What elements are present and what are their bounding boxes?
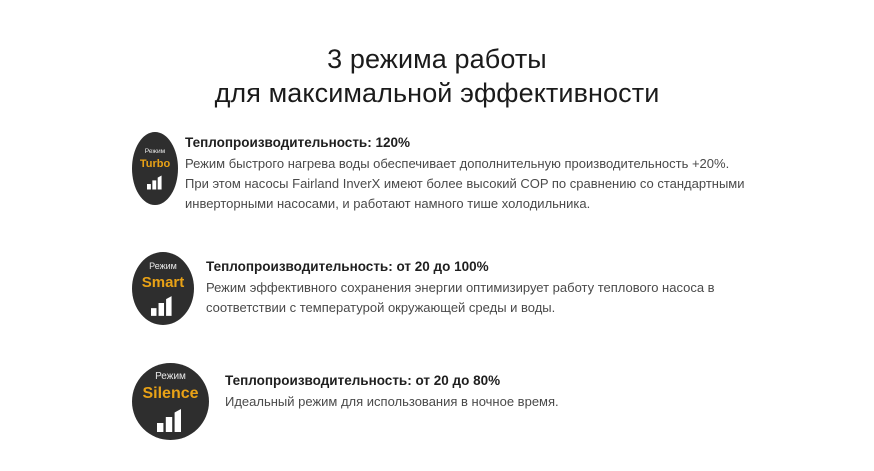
signal-bars-icon (147, 175, 164, 190)
mode-text-turbo: Теплопроизводительность: 120% Режим быст… (185, 132, 745, 214)
modes-list: Режим Turbo Теплопроизводительность: 120… (0, 132, 874, 440)
mode-body: Идеальный режим для использования в ночн… (225, 392, 559, 412)
mode-badge-turbo: Режим Turbo (132, 132, 178, 205)
mode-heading: Теплопроизводительность: от 20 до 80% (225, 371, 559, 390)
mode-body: Режим быстрого нагрева воды обеспечивает… (185, 154, 745, 214)
page-title: 3 режима работы для максимальной эффекти… (0, 18, 874, 110)
mode-text-silence: Теплопроизводительность: от 20 до 80% Ид… (225, 363, 559, 412)
mode-body-line: инверторными насосами, и работают намног… (185, 194, 745, 214)
mode-body: Режим эффективного сохранения энергии оп… (206, 278, 715, 318)
mode-item-turbo: Режим Turbo Теплопроизводительность: 120… (132, 132, 854, 214)
mode-heading: Теплопроизводительность: 120% (185, 133, 745, 152)
mode-body-line: Режим быстрого нагрева воды обеспечивает… (185, 154, 745, 174)
badge-mode-name: Silence (142, 386, 198, 402)
mode-item-smart: Режим Smart Теплопроизводительность: от … (132, 252, 854, 325)
mode-badge-silence: Режим Silence (132, 363, 209, 440)
mode-item-silence: Режим Silence Теплопроизводительность: о… (132, 363, 854, 440)
badge-word-label: Режим (149, 262, 177, 271)
signal-bars-icon (151, 296, 175, 316)
badge-word-label: Режим (155, 372, 186, 382)
mode-badge-smart: Режим Smart (132, 252, 194, 325)
mode-body-line: соответствии с температурой окружающей с… (206, 298, 715, 318)
badge-mode-name: Turbo (140, 159, 170, 170)
page-title-line-1: 3 режима работы (0, 42, 874, 76)
mode-body-line: Режим эффективного сохранения энергии оп… (206, 278, 715, 298)
badge-mode-name: Smart (142, 275, 185, 290)
signal-bars-icon (157, 409, 185, 432)
mode-body-line: При этом насосы Fairland InverX имеют бо… (185, 174, 745, 194)
mode-body-line: Идеальный режим для использования в ночн… (225, 392, 559, 412)
badge-word-label: Режим (145, 149, 165, 156)
page-title-line-2: для максимальной эффективности (0, 76, 874, 110)
mode-text-smart: Теплопроизводительность: от 20 до 100% Р… (206, 252, 715, 318)
mode-heading: Теплопроизводительность: от 20 до 100% (206, 257, 715, 276)
